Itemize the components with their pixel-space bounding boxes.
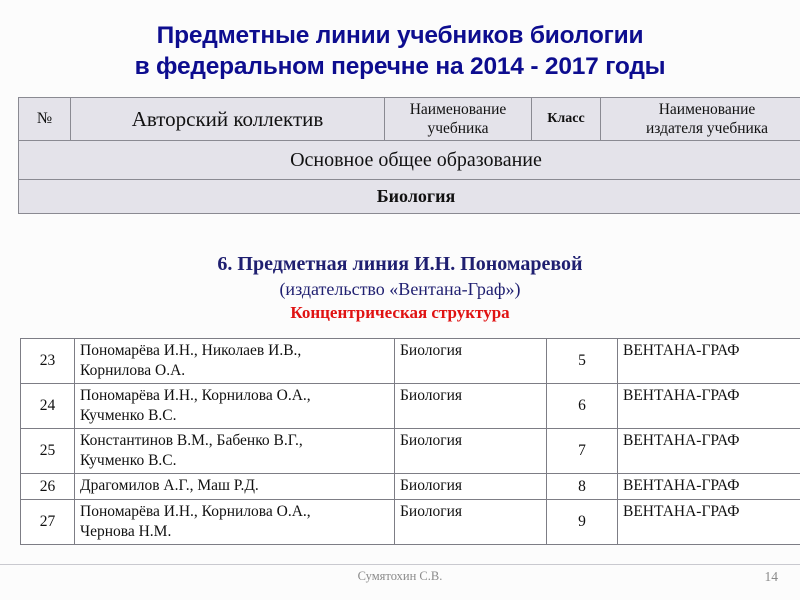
table-row: 24 Пономарёва И.Н., Корнилова О.А., Кучм… bbox=[21, 384, 800, 429]
cell-grade: 5 bbox=[547, 339, 618, 384]
education-level-row: Основное общее образование bbox=[19, 141, 800, 180]
cell-authors: Пономарёва И.Н., Корнилова О.А., Чернова… bbox=[75, 500, 395, 545]
cell-book: Биология bbox=[395, 339, 547, 384]
header-cell-grade: Класс bbox=[532, 98, 601, 141]
cell-authors: Константинов В.М., Бабенко В.Г., Кучменк… bbox=[75, 429, 395, 474]
cell-authors-line-1: Пономарёва И.Н., Корнилова О.А., bbox=[80, 502, 389, 522]
cell-publisher: ВЕНТАНА-ГРАФ bbox=[618, 500, 800, 545]
cell-publisher: ВЕНТАНА-ГРАФ bbox=[618, 429, 800, 474]
cell-authors-line-1: Константинов В.М., Бабенко В.Г., bbox=[80, 431, 389, 451]
cell-grade: 6 bbox=[547, 384, 618, 429]
series-caption-block: 6. Предметная линия И.Н. Пономаревой (из… bbox=[0, 252, 800, 324]
cell-authors: Драгомилов А.Г., Маш Р.Д. bbox=[75, 474, 395, 500]
cell-authors: Пономарёва И.Н., Корнилова О.А., Кучменк… bbox=[75, 384, 395, 429]
cell-book: Биология bbox=[395, 474, 547, 500]
header-cell-publisher-line-2: издателя учебника bbox=[604, 119, 800, 138]
cell-book: Биология bbox=[395, 429, 547, 474]
cell-authors-line-1: Пономарёва И.Н., Корнилова О.А., bbox=[80, 386, 389, 406]
cell-grade: 8 bbox=[547, 474, 618, 500]
cell-authors-line-2: Кучменко В.С. bbox=[80, 451, 389, 471]
cell-number: 24 bbox=[21, 384, 75, 429]
table-row: 27 Пономарёва И.Н., Корнилова О.А., Черн… bbox=[21, 500, 800, 545]
table-row: 26 Драгомилов А.Г., Маш Р.Д. Биология 8 … bbox=[21, 474, 800, 500]
cell-number: 25 bbox=[21, 429, 75, 474]
table-row: 23 Пономарёва И.Н., Николаев И.В., Корни… bbox=[21, 339, 800, 384]
cell-publisher: ВЕНТАНА-ГРАФ bbox=[618, 474, 800, 500]
header-cell-publisher-line-1: Наименование bbox=[604, 100, 800, 119]
education-level-label: Основное общее образование bbox=[19, 141, 800, 180]
footer-author: Сумятохин С.В. bbox=[0, 569, 800, 584]
subject-label: Биология bbox=[19, 180, 800, 214]
page-title-line-2: в федеральном перечне на 2014 - 2017 год… bbox=[0, 51, 800, 82]
series-publisher: (издательство «Вентана-Граф») bbox=[0, 277, 800, 301]
header-cell-book-name-line-2: учебника bbox=[388, 119, 528, 138]
header-cell-book-name-line-1: Наименование bbox=[388, 100, 528, 119]
cell-authors-line-1: Пономарёва И.Н., Николаев И.В., bbox=[80, 341, 389, 361]
page-title: Предметные линии учебников биологии в фе… bbox=[0, 20, 800, 82]
page-number: 14 bbox=[765, 569, 779, 585]
table-row: 25 Константинов В.М., Бабенко В.Г., Кучм… bbox=[21, 429, 800, 474]
cell-grade: 7 bbox=[547, 429, 618, 474]
cell-number: 26 bbox=[21, 474, 75, 500]
cell-publisher: ВЕНТАНА-ГРАФ bbox=[618, 339, 800, 384]
cell-authors-line-2: Кучменко В.С. bbox=[80, 406, 389, 426]
series-structure-note: Концентрическая структура bbox=[0, 301, 800, 324]
header-cell-book-name: Наименование учебника bbox=[385, 98, 532, 141]
header-cell-number: № bbox=[19, 98, 71, 141]
cell-book: Биология bbox=[395, 500, 547, 545]
cell-book: Биология bbox=[395, 384, 547, 429]
subject-row: Биология bbox=[19, 180, 800, 214]
cell-number: 27 bbox=[21, 500, 75, 545]
table-header-row: № Авторский коллектив Наименование учебн… bbox=[19, 98, 800, 141]
page-title-line-1: Предметные линии учебников биологии bbox=[0, 20, 800, 51]
column-header-table: № Авторский коллектив Наименование учебн… bbox=[18, 97, 800, 214]
footer-divider bbox=[0, 564, 800, 565]
header-cell-authors: Авторский коллектив bbox=[71, 98, 385, 141]
cell-authors-line-2: Корнилова О.А. bbox=[80, 361, 389, 381]
textbook-list-table: 23 Пономарёва И.Н., Николаев И.В., Корни… bbox=[20, 338, 800, 545]
series-title: 6. Предметная линия И.Н. Пономаревой bbox=[0, 252, 800, 277]
cell-authors: Пономарёва И.Н., Николаев И.В., Корнилов… bbox=[75, 339, 395, 384]
cell-publisher: ВЕНТАНА-ГРАФ bbox=[618, 384, 800, 429]
cell-authors-line-1: Драгомилов А.Г., Маш Р.Д. bbox=[80, 476, 389, 496]
header-cell-publisher: Наименование издателя учебника bbox=[601, 98, 800, 141]
cell-grade: 9 bbox=[547, 500, 618, 545]
cell-number: 23 bbox=[21, 339, 75, 384]
cell-authors-line-2: Чернова Н.М. bbox=[80, 522, 389, 542]
